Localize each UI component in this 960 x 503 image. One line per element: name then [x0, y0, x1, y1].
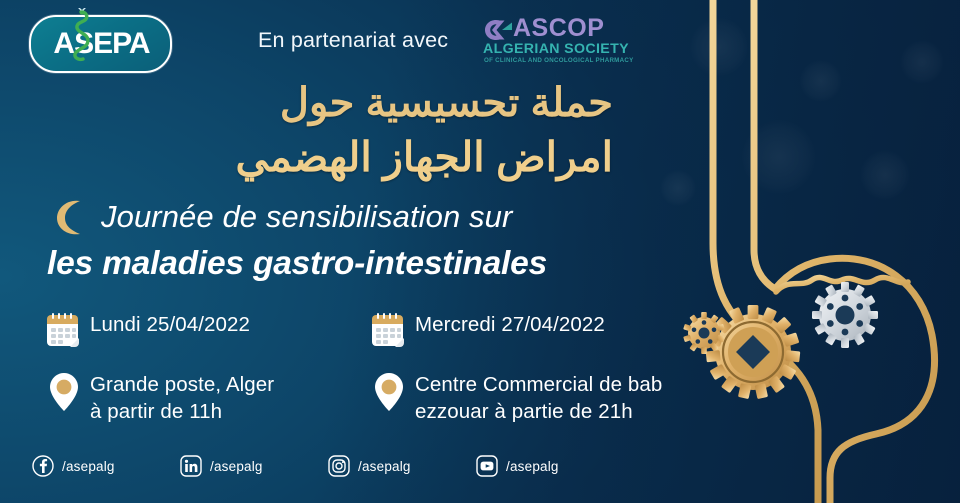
event-location-row: Grande poste, Alger à partir de 11h [46, 371, 274, 425]
linkedin-icon [180, 455, 202, 477]
event-date-row: Lundi 25/04/2022 [46, 311, 250, 347]
arabic-headline-line2: امراض الجهاز الهضمي [236, 133, 613, 181]
social-link-youtube[interactable]: /asepalg [476, 455, 559, 477]
social-handle: /asepalg [358, 459, 411, 474]
event-location-line2: à partir de 11h [90, 398, 274, 425]
social-link-instagram[interactable]: /asepalg [328, 455, 411, 477]
instagram-icon [328, 455, 350, 477]
crescent-moon-icon [50, 197, 88, 237]
bokeh-circle [860, 150, 910, 200]
map-pin-icon [49, 372, 79, 412]
calendar-icon [46, 313, 79, 347]
promotional-banner: ASEPA En partenariat avec ASCOP ALGERIAN… [0, 0, 960, 503]
ascop-chevron-mark-icon [483, 19, 513, 41]
youtube-icon [476, 455, 498, 477]
ascop-subtitle: ALGERIAN SOCIETY [483, 42, 629, 56]
facebook-icon [32, 455, 54, 477]
event-date-row: Mercredi 27/04/2022 [371, 311, 605, 347]
asepa-logo[interactable]: ASEPA [29, 15, 172, 73]
snake-caduceus-icon [67, 8, 94, 64]
header: ASEPA En partenariat avec ASCOP ALGERIAN… [0, 0, 960, 84]
calendar-icon [371, 313, 404, 347]
social-link-linkedin[interactable]: /asepalg [180, 455, 263, 477]
event-location-line2: ezzouar à partie de 21h [415, 398, 662, 425]
social-handle: /asepalg [506, 459, 559, 474]
bokeh-circle [660, 170, 696, 206]
social-links: /asepalg /asepalg /asepalg [32, 455, 652, 485]
ascop-name: ASCOP [513, 16, 604, 41]
bokeh-circle [742, 120, 816, 194]
french-headline-line2: les maladies gastro-intestinales [47, 245, 547, 283]
french-headline-line1: Journée de sensibilisation sur [101, 199, 512, 235]
social-handle: /asepalg [62, 459, 115, 474]
social-link-facebook[interactable]: /asepalg [32, 455, 115, 477]
large-gold-gear [706, 305, 801, 399]
arabic-headline-line1: حملة تحسيسية حول [280, 80, 613, 126]
ascop-tagline: OF CLINICAL AND ONCOLOGICAL PHARMACY [484, 58, 634, 64]
small-gold-gear [683, 312, 725, 354]
event-date-text: Mercredi 27/04/2022 [415, 311, 605, 338]
ascop-logo[interactable]: ASCOP ALGERIAN SOCIETY OF CLINICAL AND O… [483, 16, 629, 68]
social-handle: /asepalg [210, 459, 263, 474]
event-location-line1: Grande poste, Alger [90, 373, 274, 396]
event-location-text: Centre Commercial de bab ezzouar à parti… [415, 371, 662, 425]
event-location-row: Centre Commercial de bab ezzouar à parti… [371, 371, 662, 425]
partner-label: En partenariat avec [258, 28, 448, 53]
event-location-line1: Centre Commercial de bab [415, 373, 662, 396]
event-location-text: Grande poste, Alger à partir de 11h [90, 371, 274, 425]
silver-gear [812, 282, 878, 348]
event-date-text: Lundi 25/04/2022 [90, 311, 250, 338]
map-pin-icon [374, 372, 404, 412]
